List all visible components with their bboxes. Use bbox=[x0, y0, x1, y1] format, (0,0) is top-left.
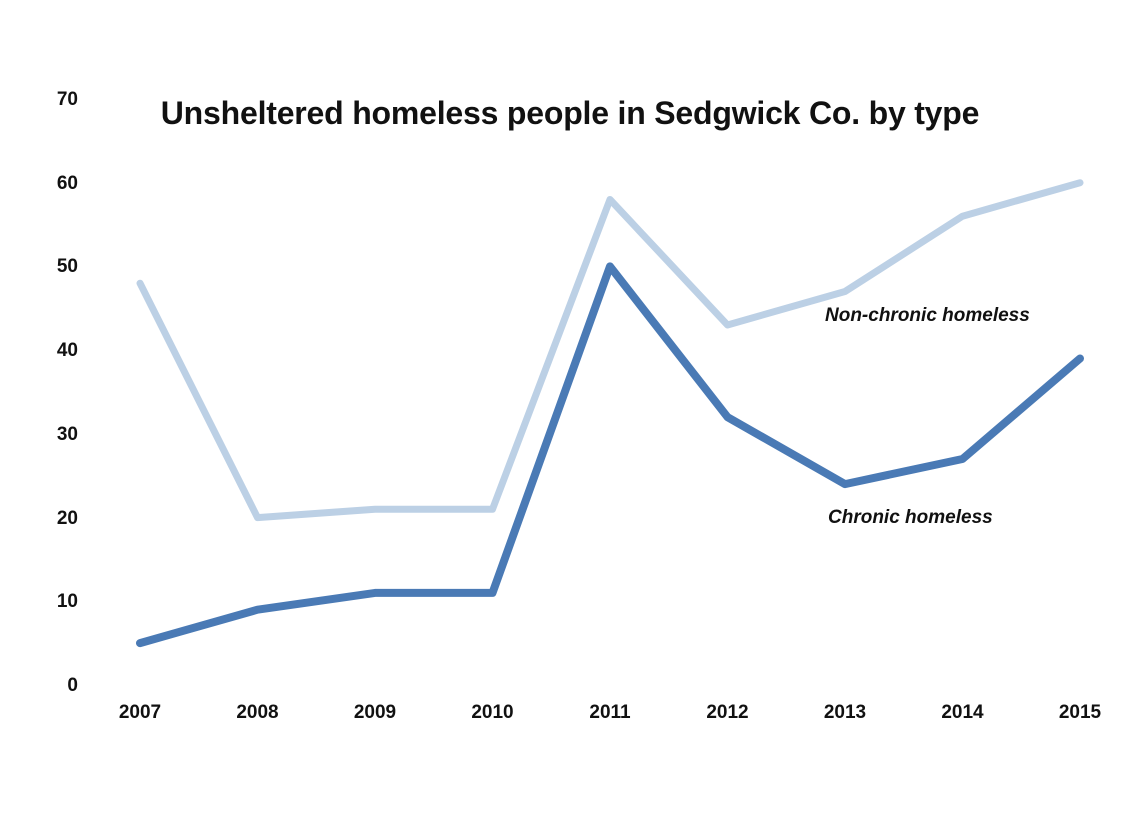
y-axis-tick-40: 40 bbox=[18, 341, 78, 360]
x-axis-tick-2015: 2015 bbox=[1025, 703, 1135, 722]
x-axis-tick-2013: 2013 bbox=[790, 703, 900, 722]
chart-container: Unsheltered homeless people in Sedgwick … bbox=[0, 0, 1140, 829]
x-axis-tick-2008: 2008 bbox=[203, 703, 313, 722]
y-axis-tick-0: 0 bbox=[18, 676, 78, 695]
series-label-chronic-homeless: Chronic homeless bbox=[828, 508, 993, 527]
x-axis-tick-2010: 2010 bbox=[438, 703, 548, 722]
x-axis-tick-2009: 2009 bbox=[320, 703, 430, 722]
y-axis-tick-70: 70 bbox=[18, 90, 78, 109]
x-axis-tick-2014: 2014 bbox=[908, 703, 1018, 722]
series-label-non-chronic-homeless: Non-chronic homeless bbox=[825, 306, 1030, 325]
x-axis-tick-2007: 2007 bbox=[85, 703, 195, 722]
x-axis-tick-2012: 2012 bbox=[673, 703, 783, 722]
series-lines bbox=[90, 85, 1120, 695]
plot-area bbox=[90, 85, 1120, 695]
y-axis-tick-50: 50 bbox=[18, 257, 78, 276]
y-axis-tick-30: 30 bbox=[18, 425, 78, 444]
y-axis-tick-60: 60 bbox=[18, 174, 78, 193]
y-axis-tick-20: 20 bbox=[18, 509, 78, 528]
x-axis-tick-2011: 2011 bbox=[555, 703, 665, 722]
y-axis-tick-10: 10 bbox=[18, 592, 78, 611]
